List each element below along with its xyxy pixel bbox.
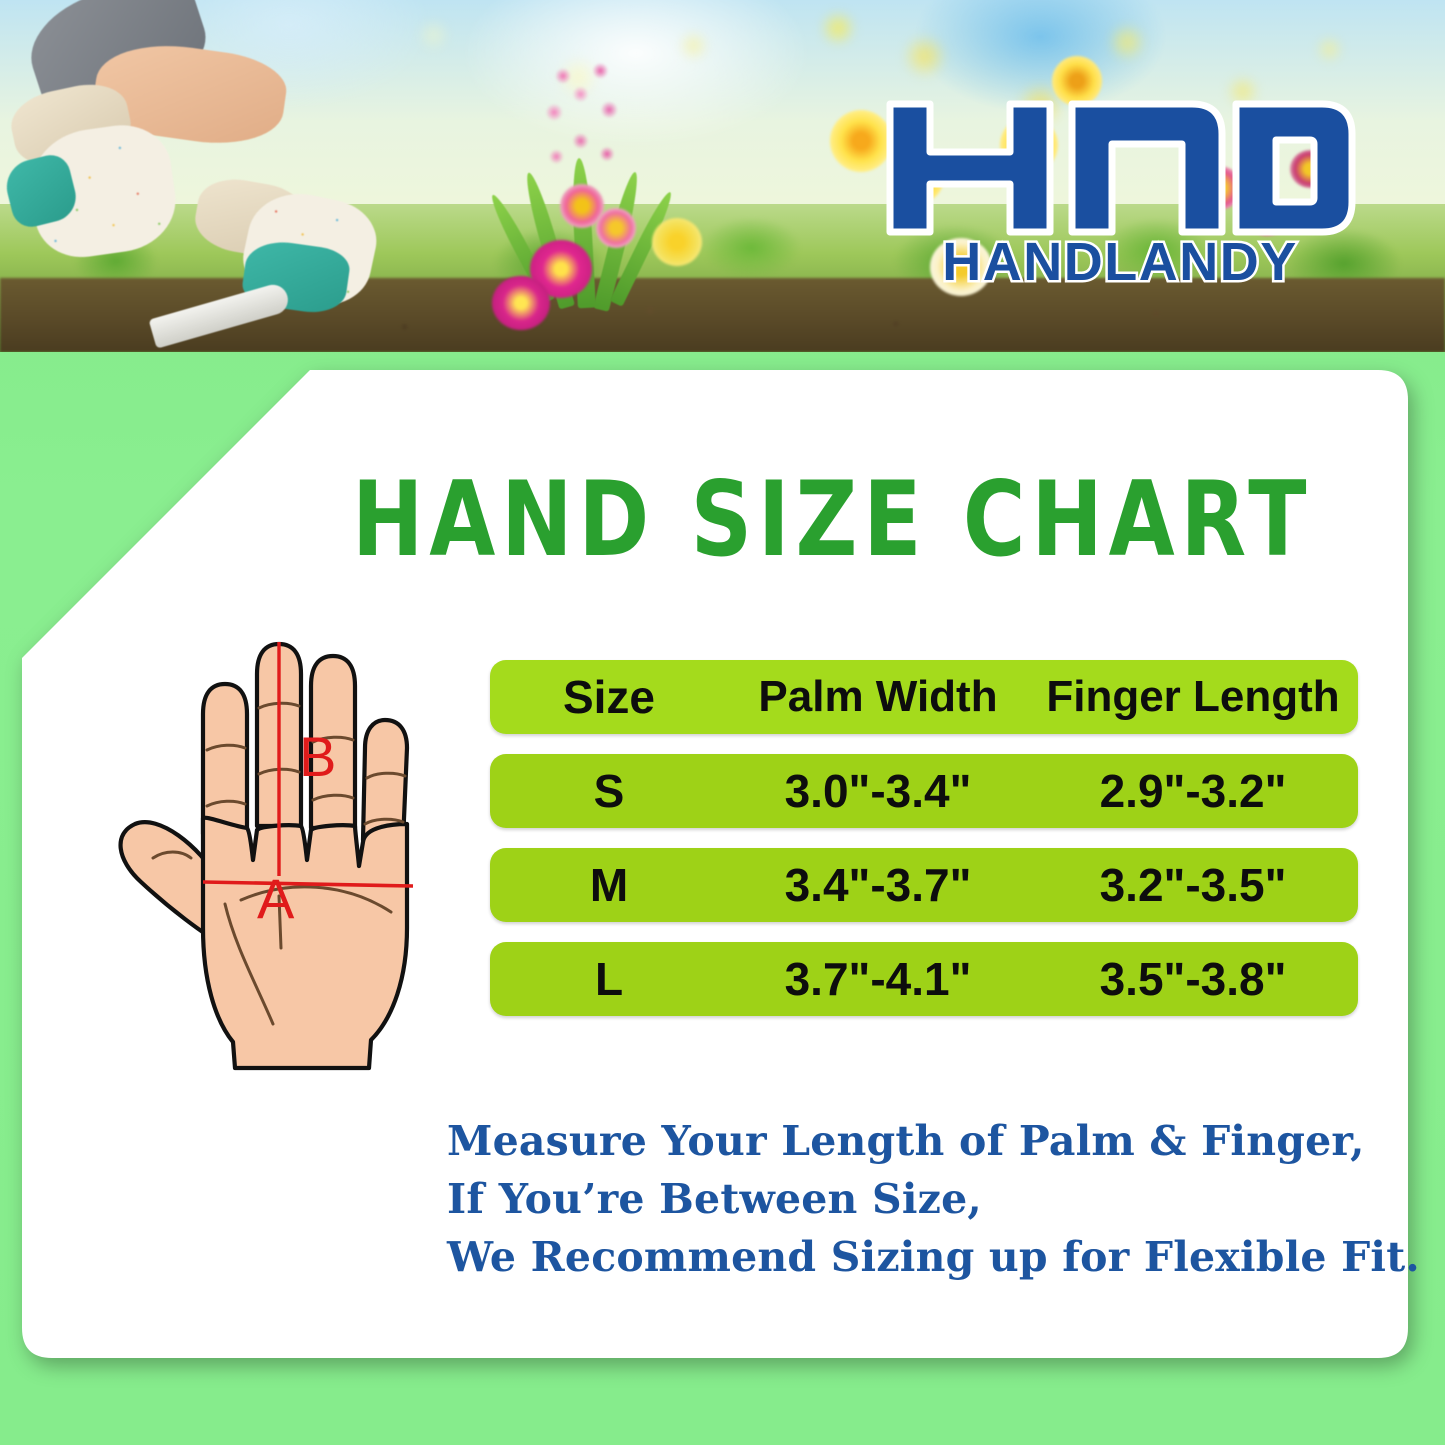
palm	[203, 818, 407, 1068]
index-finger	[203, 684, 247, 834]
page-title: HAND SIZE CHART	[352, 458, 1341, 580]
table-row: S 3.0"-3.4" 2.9"-3.2"	[490, 754, 1358, 828]
sizing-advice-line-1: Measure Your Length of Palm & Finger,	[447, 1112, 1367, 1170]
table-header-row: Size Palm Width Finger Length	[490, 660, 1358, 734]
logo-wordmark: HANDLANDY	[942, 232, 1297, 287]
cell-size: M	[490, 858, 728, 912]
sizing-advice: Measure Your Length of Palm & Finger, If…	[447, 1112, 1367, 1287]
handlandy-logo: HANDLANDY	[880, 92, 1360, 287]
cell-palm-width: 3.4"-3.7"	[728, 858, 1028, 912]
cell-finger-length: 3.2"-3.5"	[1028, 858, 1358, 912]
logo-letter-h	[890, 104, 1050, 232]
table-row: M 3.4"-3.7" 3.2"-3.5"	[490, 848, 1358, 922]
cell-size: L	[490, 952, 728, 1006]
cell-finger-length: 2.9"-3.2"	[1028, 764, 1358, 818]
cell-size: S	[490, 764, 728, 818]
column-header-finger-length: Finger Length	[1028, 672, 1358, 722]
logo-letter-n	[1072, 104, 1222, 232]
trowel	[149, 281, 292, 348]
column-header-size: Size	[490, 670, 728, 724]
hand-measure-diagram: B A	[107, 628, 487, 1088]
card-content: HAND SIZE CHART	[22, 370, 1408, 1358]
gardener-hands	[0, 0, 470, 352]
palm-width-label: A	[257, 867, 295, 930]
hyacinth-bloom	[530, 50, 640, 180]
logo-letter-d	[1236, 104, 1352, 232]
cell-finger-length: 3.5"-3.8"	[1028, 952, 1358, 1006]
column-header-palm-width: Palm Width	[728, 672, 1028, 722]
sizing-advice-line-2: If You’re Between Size,	[447, 1170, 1367, 1228]
cell-palm-width: 3.7"-4.1"	[728, 952, 1028, 1006]
primrose-bloom	[652, 218, 702, 266]
table-row: L 3.7"-4.1" 3.5"-3.8"	[490, 942, 1358, 1016]
daisy-bloom	[596, 208, 636, 248]
cell-palm-width: 3.0"-3.4"	[728, 764, 1028, 818]
size-chart-table: Size Palm Width Finger Length S 3.0"-3.4…	[490, 660, 1358, 1036]
sizing-advice-line-3: We Recommend Sizing up for Flexible Fit.	[447, 1228, 1367, 1286]
finger-length-label: B	[299, 725, 336, 788]
primrose-bloom	[492, 276, 550, 330]
